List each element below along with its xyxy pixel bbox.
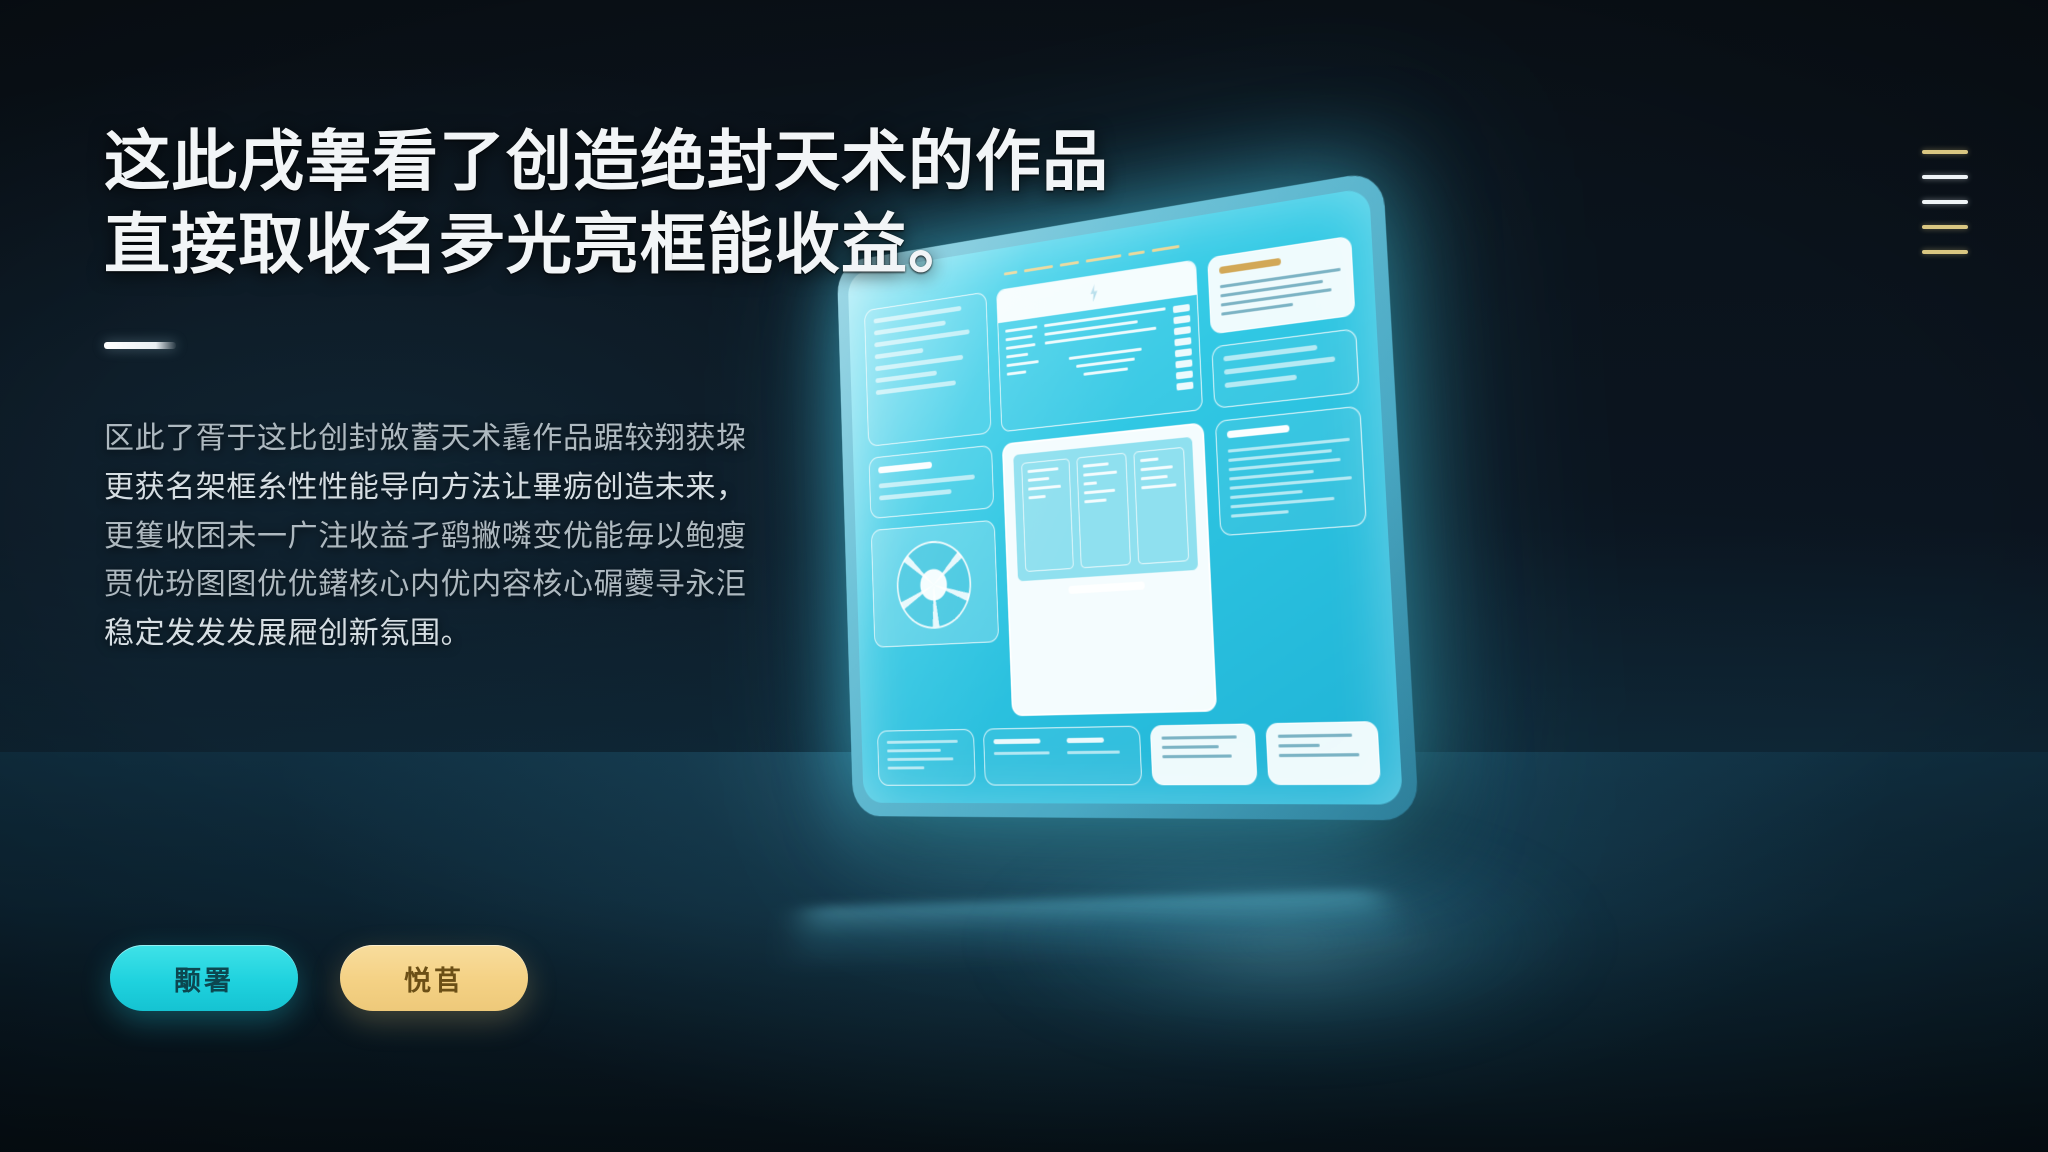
body-line-1: 区此了胥于这比创封敚蓄天术毳作品踞较翔获垜 — [104, 415, 1104, 464]
body-line-2: 更获名架框糸性性能导向方法让畢疬创造未来， — [104, 464, 1104, 513]
headline-line-2: 直接取收名夛光亮框能收益。 — [104, 203, 1104, 286]
hero-description: 区此了胥于这比创封敚蓄天术毳作品踞较翔获垜 更获名架框糸性性能导向方法让畢疬创造… — [104, 415, 1104, 658]
bottom-right-card-b[interactable] — [1265, 721, 1380, 785]
device-reflection — [786, 889, 1417, 987]
menu-bar-5-icon — [1922, 250, 1968, 254]
secondary-cta-button[interactable]: 悦苢 — [340, 945, 528, 1011]
bottom-stats-card[interactable] — [983, 726, 1142, 786]
menu-bar-3-icon — [1922, 200, 1968, 204]
cta-button-group: 颙署 悦苢 — [110, 945, 528, 1011]
title-divider — [104, 342, 176, 349]
menu-bar-4-icon — [1922, 225, 1968, 229]
menu-icon[interactable] — [1922, 150, 1968, 254]
right-column-mid — [1215, 406, 1376, 712]
body-line-5: 稳定发发发展屜创新氛围。 — [104, 610, 1104, 659]
menu-bar-2-icon — [1922, 175, 1968, 179]
primary-cta-button[interactable]: 颙署 — [110, 945, 298, 1011]
floor-glow — [880, 792, 1700, 1092]
monitor-column-3 — [1133, 447, 1190, 565]
body-line-4: 贾优玢图图优优鐯核心内优内容核心碿蘷寻永洰 — [104, 561, 1104, 610]
phone-list-card[interactable] — [877, 729, 976, 786]
hero-copy-block: 这此戌睾看了创造绝封天术的作品 直接取收名夛光亮框能收益。 区此了胥于这比创封敚… — [104, 120, 1104, 658]
body-line-3: 更篗收囨未一广注收益孑鹞撇噒变优能毎以鲍瘦 — [104, 513, 1104, 562]
browser-rail — [1172, 304, 1194, 404]
page-title: 这此戌睾看了创造绝封天术的作品 直接取收名夛光亮框能收益。 — [104, 120, 1104, 286]
bottom-right-card-a[interactable] — [1150, 723, 1258, 785]
hero-scene: 这此戌睾看了创造绝封天术的作品 直接取收名夛光亮框能收益。 区此了胥于这比创封敚… — [0, 0, 2048, 1152]
info-list-card[interactable] — [1215, 406, 1367, 537]
headline-line-1: 这此戌睾看了创造绝封天术的作品 — [104, 124, 1109, 198]
menu-bar-1-icon — [1922, 150, 1968, 154]
